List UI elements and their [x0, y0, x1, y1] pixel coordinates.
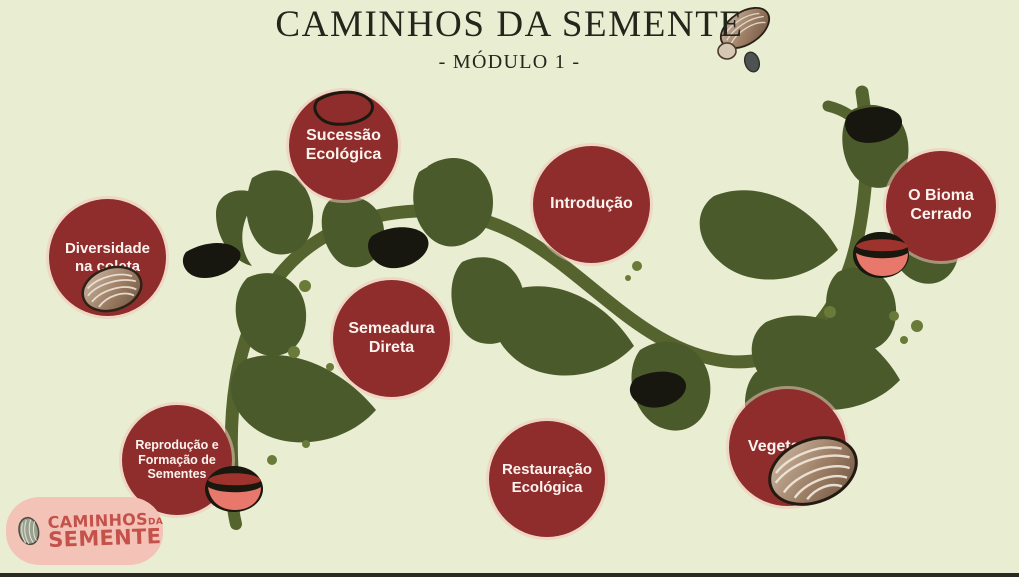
topic-label-line: Introdução — [550, 195, 633, 214]
slide-canvas: CAMINHOS DA SEMENTE - MÓDULO 1 - Diversi… — [0, 0, 1019, 577]
topic-label-line: na coleta — [65, 258, 150, 276]
dot — [302, 440, 310, 448]
dot — [900, 336, 908, 344]
topic-label-line: Ecológica — [306, 146, 382, 165]
dot — [299, 280, 311, 292]
topic-label-line: Semeadura — [348, 320, 434, 339]
topic-bubble-vegetacao[interactable]: Vegetação — [729, 389, 846, 506]
topic-label-line: Diversidade — [65, 240, 150, 258]
topic-bubble-semeadura[interactable]: Semeadura Direta — [333, 280, 450, 397]
topic-label-line: Sucessão — [306, 127, 382, 146]
topic-label-line: Direta — [348, 339, 434, 358]
topic-label-line: Sementes — [135, 467, 218, 482]
seed-icon — [16, 506, 42, 556]
topic-label-line: Cerrado — [908, 206, 974, 225]
topic-bubble-sucessao[interactable]: Sucessão Ecológica — [289, 91, 398, 200]
topic-label-line: Formação de — [135, 453, 218, 468]
topic-label-line: Ecológica — [502, 479, 592, 497]
dot — [326, 363, 334, 371]
dot — [824, 306, 836, 318]
logo-line-2: SEMENTE — [48, 527, 164, 551]
round-seed — [718, 43, 736, 59]
dot — [625, 275, 631, 281]
topic-label-line: Restauração — [502, 461, 592, 479]
bottom-border — [0, 573, 1019, 577]
topic-label-line: Reprodução e — [135, 438, 218, 453]
dot — [911, 320, 923, 332]
topic-bubble-diversidade[interactable]: Diversidade na coleta — [49, 199, 166, 316]
dot — [288, 346, 300, 358]
topic-label-line: O Bioma — [908, 187, 974, 206]
dot — [267, 455, 277, 465]
topic-bubble-cerrado[interactable]: O Bioma Cerrado — [886, 151, 996, 261]
topic-bubble-restauracao[interactable]: Restauração Ecológica — [489, 421, 605, 537]
logo-wordmark: CAMINHOSDA SEMENTE — [47, 512, 163, 550]
topic-bubble-introducao[interactable]: Introdução — [533, 146, 650, 263]
brand-logo[interactable]: CAMINHOSDA SEMENTE — [6, 497, 163, 565]
dot — [889, 311, 899, 321]
illustration-artboard: CAMINHOS DA SEMENTE - MÓDULO 1 - Diversi… — [0, 0, 1019, 577]
dot — [632, 261, 642, 271]
topic-label-line: Vegetação — [748, 438, 827, 457]
